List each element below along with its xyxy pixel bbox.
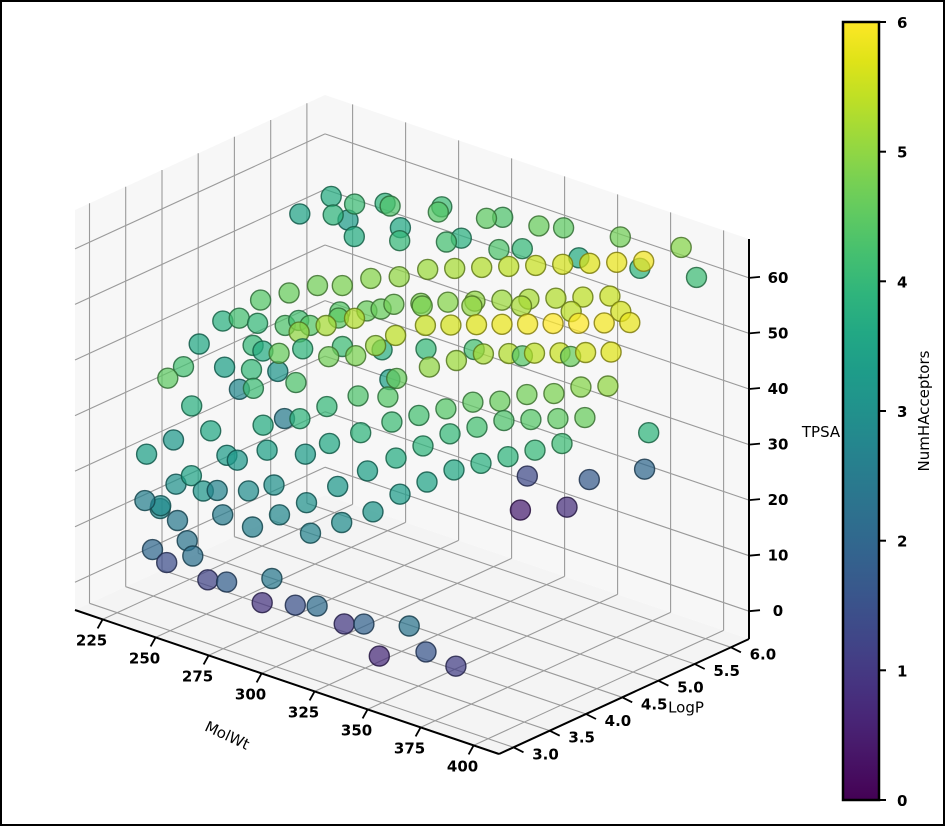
data-point bbox=[415, 315, 435, 335]
tick-z bbox=[749, 555, 760, 556]
data-point bbox=[243, 378, 263, 398]
data-point bbox=[521, 410, 541, 430]
data-point bbox=[389, 267, 409, 287]
tick-label-x: 375 bbox=[394, 739, 425, 757]
tick-z bbox=[749, 610, 760, 611]
data-point bbox=[639, 423, 659, 443]
data-point bbox=[492, 290, 512, 310]
tick-x bbox=[310, 691, 315, 700]
data-point bbox=[446, 656, 466, 676]
data-point bbox=[295, 444, 315, 464]
data-point bbox=[594, 313, 614, 333]
data-point bbox=[543, 314, 563, 334]
data-point bbox=[525, 440, 545, 460]
data-point bbox=[239, 481, 259, 501]
data-point bbox=[399, 616, 419, 636]
data-point bbox=[182, 396, 202, 416]
tick-z bbox=[749, 332, 760, 333]
data-point bbox=[380, 196, 400, 216]
data-point bbox=[378, 387, 398, 407]
data-point bbox=[518, 314, 538, 334]
scatter3d-svg: 2252502753003253503754003.03.54.04.55.05… bbox=[2, 2, 943, 824]
data-point bbox=[242, 360, 262, 380]
data-point bbox=[428, 202, 448, 222]
figure-root: 2252502753003253503754003.03.54.04.55.05… bbox=[0, 0, 945, 826]
data-point bbox=[544, 384, 564, 404]
data-point bbox=[369, 646, 389, 666]
data-point bbox=[552, 434, 572, 454]
data-point bbox=[158, 368, 178, 388]
data-point bbox=[436, 399, 456, 419]
tick-label-y: 3.0 bbox=[532, 745, 559, 763]
data-point bbox=[463, 392, 483, 412]
data-point bbox=[290, 204, 310, 224]
colorbar-tick-label: 2 bbox=[897, 533, 907, 551]
data-point bbox=[332, 276, 352, 296]
colorbar-tick-label: 1 bbox=[897, 662, 907, 680]
data-point bbox=[354, 614, 374, 634]
tick-label-x: 325 bbox=[288, 703, 319, 721]
data-point bbox=[270, 505, 290, 525]
tick-x bbox=[204, 655, 209, 664]
data-point bbox=[268, 361, 288, 381]
tick-x bbox=[416, 727, 421, 736]
data-point bbox=[525, 343, 545, 363]
data-point bbox=[285, 595, 305, 615]
data-point bbox=[462, 296, 482, 316]
tick-label-x: 275 bbox=[182, 667, 213, 685]
data-point bbox=[264, 475, 284, 495]
data-point bbox=[253, 415, 273, 435]
data-point bbox=[198, 570, 218, 590]
data-point bbox=[183, 546, 203, 566]
tick-z bbox=[749, 444, 760, 445]
tick-label-z: 40 bbox=[768, 380, 789, 398]
data-point bbox=[390, 231, 410, 251]
data-point bbox=[569, 313, 589, 333]
data-point bbox=[517, 466, 537, 486]
colorbar-tick-label: 5 bbox=[897, 144, 907, 162]
data-point bbox=[217, 572, 237, 592]
data-point bbox=[346, 346, 366, 366]
data-point bbox=[248, 313, 268, 333]
colorbar-gradient[interactable] bbox=[843, 22, 879, 800]
data-point bbox=[553, 254, 573, 274]
data-point bbox=[444, 460, 464, 480]
data-point bbox=[635, 459, 655, 479]
data-point bbox=[634, 251, 654, 271]
data-point bbox=[321, 186, 341, 206]
data-point bbox=[386, 325, 406, 345]
data-point bbox=[548, 409, 568, 429]
axis-title-z: TPSA bbox=[801, 423, 841, 441]
data-point bbox=[227, 450, 247, 470]
data-point bbox=[417, 472, 437, 492]
data-point bbox=[384, 294, 404, 314]
data-point bbox=[279, 283, 299, 303]
data-point bbox=[382, 412, 402, 432]
tick-x bbox=[469, 745, 474, 754]
data-point bbox=[320, 433, 340, 453]
data-point bbox=[607, 252, 627, 272]
data-point bbox=[358, 461, 378, 481]
tick-y bbox=[695, 664, 705, 669]
data-point bbox=[557, 497, 577, 517]
data-point bbox=[471, 453, 491, 473]
tick-x bbox=[363, 709, 368, 718]
data-point bbox=[135, 491, 155, 511]
data-point bbox=[671, 237, 691, 257]
tick-x bbox=[257, 673, 262, 682]
data-point bbox=[361, 268, 381, 288]
tick-label-z: 20 bbox=[768, 491, 789, 509]
data-point bbox=[363, 502, 383, 522]
colorbar-title: NumHAcceptors bbox=[915, 350, 933, 471]
tick-y bbox=[550, 731, 560, 736]
data-point bbox=[445, 258, 465, 278]
tick-x bbox=[98, 619, 103, 628]
tick-z bbox=[749, 277, 760, 278]
data-point bbox=[207, 480, 227, 500]
data-point bbox=[416, 642, 436, 662]
data-point bbox=[472, 257, 492, 277]
data-point bbox=[492, 314, 512, 334]
data-point bbox=[351, 423, 371, 443]
tick-x bbox=[151, 637, 156, 646]
data-point bbox=[687, 267, 707, 287]
tick-y bbox=[731, 647, 741, 652]
data-point bbox=[620, 313, 640, 333]
axis-title-y: LogP bbox=[668, 699, 704, 717]
data-point bbox=[344, 227, 364, 247]
tick-label-y: 4.0 bbox=[605, 712, 632, 730]
data-point bbox=[137, 444, 157, 464]
data-point bbox=[499, 256, 519, 276]
data-point bbox=[416, 339, 436, 359]
data-point bbox=[512, 296, 532, 316]
data-point bbox=[262, 569, 282, 589]
tick-label-x: 400 bbox=[447, 757, 478, 775]
data-point bbox=[316, 316, 336, 336]
data-point bbox=[257, 440, 277, 460]
tick-label-y: 5.5 bbox=[713, 662, 740, 680]
data-point bbox=[473, 344, 493, 364]
data-point bbox=[576, 343, 596, 363]
data-point bbox=[438, 292, 458, 312]
tick-label-y: 5.0 bbox=[677, 679, 704, 697]
tick-y bbox=[514, 747, 524, 752]
data-point bbox=[580, 253, 600, 273]
tick-label-x: 225 bbox=[76, 631, 107, 649]
data-point bbox=[571, 377, 591, 397]
data-point bbox=[334, 614, 354, 634]
data-point bbox=[419, 357, 439, 377]
colorbar-tick-label: 4 bbox=[897, 273, 907, 291]
data-point bbox=[554, 218, 574, 238]
data-point bbox=[243, 517, 263, 537]
data-point bbox=[477, 208, 497, 228]
data-point bbox=[446, 351, 466, 371]
data-point bbox=[517, 385, 537, 405]
tick-label-y: 3.5 bbox=[568, 729, 595, 747]
colorbar-tick-label: 6 bbox=[897, 14, 907, 32]
data-point bbox=[575, 408, 595, 428]
data-point bbox=[319, 347, 339, 367]
data-point bbox=[229, 308, 249, 328]
data-point bbox=[297, 493, 317, 513]
data-point bbox=[598, 376, 618, 396]
data-point bbox=[510, 500, 530, 520]
tick-label-z: 60 bbox=[768, 269, 789, 287]
data-point bbox=[332, 513, 352, 533]
colorbar: 0123456NumHAcceptors bbox=[843, 14, 933, 810]
data-point bbox=[189, 334, 209, 354]
data-point bbox=[323, 205, 343, 225]
colorbar-tick-label: 0 bbox=[897, 792, 907, 810]
data-point bbox=[307, 596, 327, 616]
tick-z bbox=[749, 499, 760, 500]
data-point bbox=[366, 336, 386, 356]
data-point bbox=[413, 436, 433, 456]
data-point bbox=[601, 342, 621, 362]
data-point bbox=[610, 227, 630, 247]
data-point bbox=[201, 421, 221, 441]
data-point bbox=[498, 447, 518, 467]
data-point bbox=[512, 239, 532, 259]
tick-y bbox=[622, 697, 632, 702]
data-point bbox=[412, 296, 432, 316]
data-point bbox=[494, 411, 514, 431]
data-point bbox=[526, 255, 546, 275]
tick-label-z: 0 bbox=[773, 602, 783, 620]
tick-z bbox=[749, 388, 760, 389]
data-point bbox=[409, 405, 429, 425]
axis-title-x: MolWt bbox=[202, 717, 252, 753]
data-point bbox=[215, 357, 235, 377]
data-point bbox=[157, 553, 177, 573]
data-point bbox=[529, 216, 549, 236]
tick-label-y: 4.5 bbox=[641, 695, 668, 713]
data-point bbox=[387, 368, 407, 388]
data-point bbox=[308, 276, 328, 296]
tick-y bbox=[658, 681, 668, 686]
data-point bbox=[441, 315, 461, 335]
data-point bbox=[293, 339, 313, 359]
tick-label-x: 250 bbox=[129, 649, 160, 667]
tick-label-y: 6.0 bbox=[750, 645, 777, 663]
data-point bbox=[286, 373, 306, 393]
data-point bbox=[579, 470, 599, 490]
data-point bbox=[345, 308, 365, 328]
data-point bbox=[348, 386, 368, 406]
data-point bbox=[328, 476, 348, 496]
data-point bbox=[251, 290, 271, 310]
data-point bbox=[467, 417, 487, 437]
data-point bbox=[290, 409, 310, 429]
data-point bbox=[252, 593, 272, 613]
data-point bbox=[418, 259, 438, 279]
data-point bbox=[467, 315, 487, 335]
data-point bbox=[301, 523, 321, 543]
tick-label-z: 50 bbox=[768, 324, 789, 342]
data-point bbox=[490, 391, 510, 411]
tick-label-x: 300 bbox=[235, 685, 266, 703]
data-point bbox=[213, 505, 233, 525]
tick-y bbox=[586, 714, 596, 719]
data-point bbox=[269, 343, 289, 363]
data-point bbox=[386, 448, 406, 468]
tick-label-z: 10 bbox=[768, 547, 789, 565]
data-point bbox=[168, 511, 188, 531]
data-point bbox=[440, 424, 460, 444]
colorbar-tick-label: 3 bbox=[897, 403, 907, 421]
data-point bbox=[436, 232, 456, 252]
tick-label-z: 30 bbox=[768, 436, 789, 454]
data-point bbox=[345, 194, 365, 214]
data-point bbox=[164, 430, 184, 450]
tick-label-x: 350 bbox=[341, 721, 372, 739]
data-point bbox=[317, 397, 337, 417]
data-point bbox=[390, 484, 410, 504]
